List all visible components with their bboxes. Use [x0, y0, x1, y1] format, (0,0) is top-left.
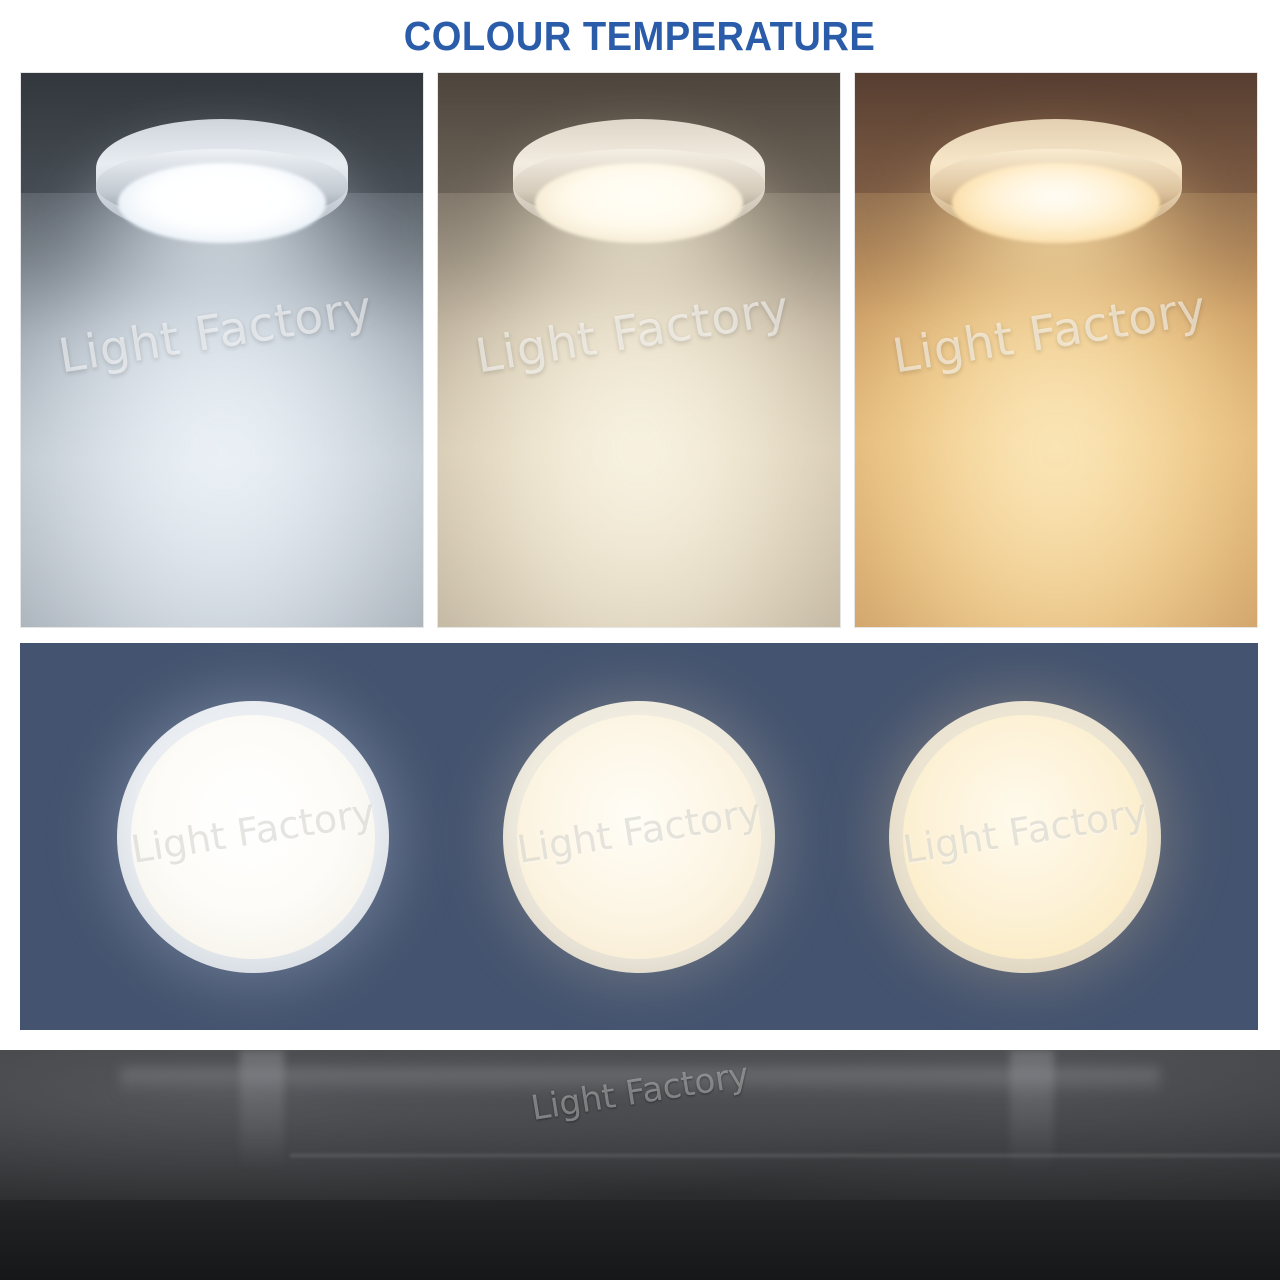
fixture-lens: [952, 163, 1160, 243]
fixture-lens: [118, 163, 326, 243]
daylight-disc: Light Factory: [117, 701, 389, 973]
ceiling-light-fixture: [513, 119, 765, 255]
photo-comparison-row: Light Factory Light Factory Light Factor…: [20, 72, 1258, 628]
ceiling-light-fixture: [930, 119, 1182, 255]
warmwhite-photo: Light Factory: [854, 72, 1258, 628]
ceiling-light-fixture: [96, 119, 348, 255]
disc-face: [517, 715, 761, 959]
background-bracket-left: [240, 1050, 284, 1170]
fixture-lens: [535, 163, 743, 243]
background-bracket-right: [1010, 1050, 1054, 1170]
disc-face: [131, 715, 375, 959]
disc-row: Light Factory Light Factory Light Factor…: [20, 643, 1258, 1030]
page-title: COLOUR TEMPERATURE: [404, 13, 876, 60]
disc-comparison-panel: Light Factory Light Factory Light Factor…: [20, 643, 1258, 1030]
page-header: COLOUR TEMPERATURE: [0, 0, 1280, 72]
daylight-photo: Light Factory: [20, 72, 424, 628]
disc-face: [903, 715, 1147, 959]
coolwhite-photo: Light Factory: [437, 72, 841, 628]
background-floor: [0, 1200, 1280, 1280]
temperature-scale-panel: Light Factory Daylight 6500k Coolwhite 4…: [0, 1050, 1280, 1280]
warmwhite-disc: Light Factory: [889, 701, 1161, 973]
background-ledge: [290, 1154, 1280, 1157]
coolwhite-disc: Light Factory: [503, 701, 775, 973]
